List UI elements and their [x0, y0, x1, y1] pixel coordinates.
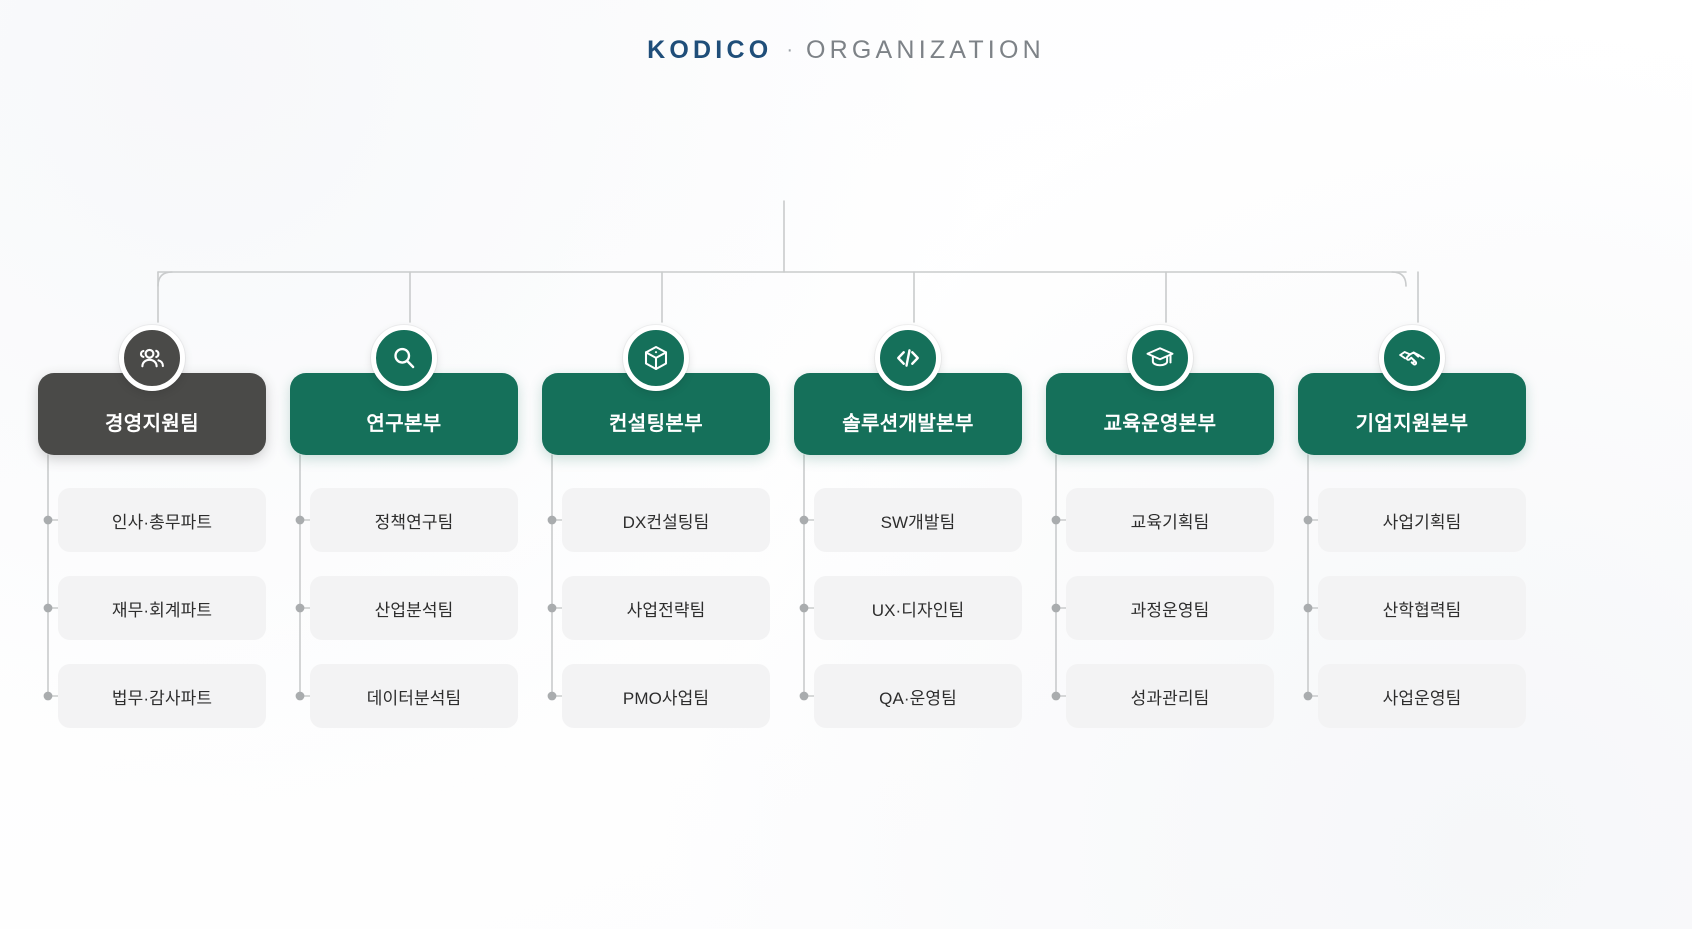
users-icon [119, 325, 185, 391]
sub-team-item[interactable]: 정책연구팀 [310, 488, 518, 552]
sub-team-item[interactable]: 데이터분석팀 [310, 664, 518, 728]
sub-team-list: 교육기획팀과정운영팀성과관리팀 [1046, 488, 1274, 728]
sub-team-item[interactable]: 법무·감사파트 [58, 664, 266, 728]
sub-team-label: SW개발팀 [881, 508, 956, 533]
sub-team-label: 법무·감사파트 [112, 684, 212, 709]
sub-team-label: 과정운영팀 [1131, 596, 1210, 621]
org-chart-canvas: KODICO·ORGANIZATION 경영지원팀인사·총무파트재무·회계파트법… [0, 0, 1692, 929]
sub-team-label: QA·운영팀 [879, 684, 957, 709]
sub-team-item[interactable]: 인사·총무파트 [58, 488, 266, 552]
sub-team-list: DX컨설팅팀사업전략팀PMO사업팀 [542, 488, 770, 728]
sub-team-item[interactable]: SW개발팀 [814, 488, 1022, 552]
sub-team-item[interactable]: 산학협력팀 [1318, 576, 1526, 640]
title-separator: · [786, 39, 793, 61]
department-label: 경영지원팀 [105, 407, 199, 436]
sub-team-list: 정책연구팀산업분석팀데이터분석팀 [290, 488, 518, 728]
brand-name: KODICO [647, 36, 772, 64]
department-label: 연구본부 [366, 407, 441, 436]
sub-team-label: DX컨설팅팀 [623, 508, 710, 533]
sub-team-label: PMO사업팀 [623, 684, 709, 709]
sub-team-item[interactable]: QA·운영팀 [814, 664, 1022, 728]
page-title: KODICO·ORGANIZATION [0, 36, 1692, 65]
sub-team-label: 데이터분석팀 [367, 684, 461, 709]
sub-team-label: 인사·총무파트 [112, 508, 212, 533]
sub-team-item[interactable]: 교육기획팀 [1066, 488, 1274, 552]
sub-team-list: 사업기획팀산학협력팀사업운영팀 [1298, 488, 1526, 728]
sub-team-label: 교육기획팀 [1131, 508, 1210, 533]
sub-team-item[interactable]: PMO사업팀 [562, 664, 770, 728]
department-label: 솔루션개발본부 [842, 407, 974, 436]
department-label: 컨설팅본부 [609, 407, 703, 436]
sub-team-label: 사업운영팀 [1383, 684, 1462, 709]
handshake-icon [1379, 325, 1445, 391]
sub-team-item[interactable]: 산업분석팀 [310, 576, 518, 640]
code-icon [875, 325, 941, 391]
connector-lines [0, 0, 1692, 929]
sub-team-item[interactable]: 재무·회계파트 [58, 576, 266, 640]
sub-team-label: 사업전략팀 [627, 596, 706, 621]
sub-team-label: UX·디자인팀 [872, 596, 965, 621]
sub-team-label: 재무·회계파트 [112, 596, 212, 621]
search-icon [371, 325, 437, 391]
sub-team-label: 성과관리팀 [1131, 684, 1210, 709]
title-subtitle: ORGANIZATION [806, 36, 1045, 64]
bus-corner-left [158, 272, 172, 286]
department-label: 교육운영본부 [1104, 407, 1217, 436]
sub-team-label: 산업분석팀 [375, 596, 454, 621]
sub-team-item[interactable]: 과정운영팀 [1066, 576, 1274, 640]
department-label: 기업지원본부 [1356, 407, 1469, 436]
sub-team-item[interactable]: 성과관리팀 [1066, 664, 1274, 728]
bus-corner-right [1392, 272, 1406, 286]
sub-team-item[interactable]: 사업기획팀 [1318, 488, 1526, 552]
sub-team-label: 산학협력팀 [1383, 596, 1462, 621]
cube-icon [623, 325, 689, 391]
sub-team-list: 인사·총무파트재무·회계파트법무·감사파트 [38, 488, 266, 728]
sub-team-item[interactable]: 사업전략팀 [562, 576, 770, 640]
sub-team-item[interactable]: 사업운영팀 [1318, 664, 1526, 728]
sub-team-label: 사업기획팀 [1383, 508, 1462, 533]
graduation-cap-icon [1127, 325, 1193, 391]
sub-team-item[interactable]: DX컨설팅팀 [562, 488, 770, 552]
sub-team-label: 정책연구팀 [375, 508, 454, 533]
sub-team-item[interactable]: UX·디자인팀 [814, 576, 1022, 640]
sub-team-list: SW개발팀UX·디자인팀QA·운영팀 [794, 488, 1022, 728]
